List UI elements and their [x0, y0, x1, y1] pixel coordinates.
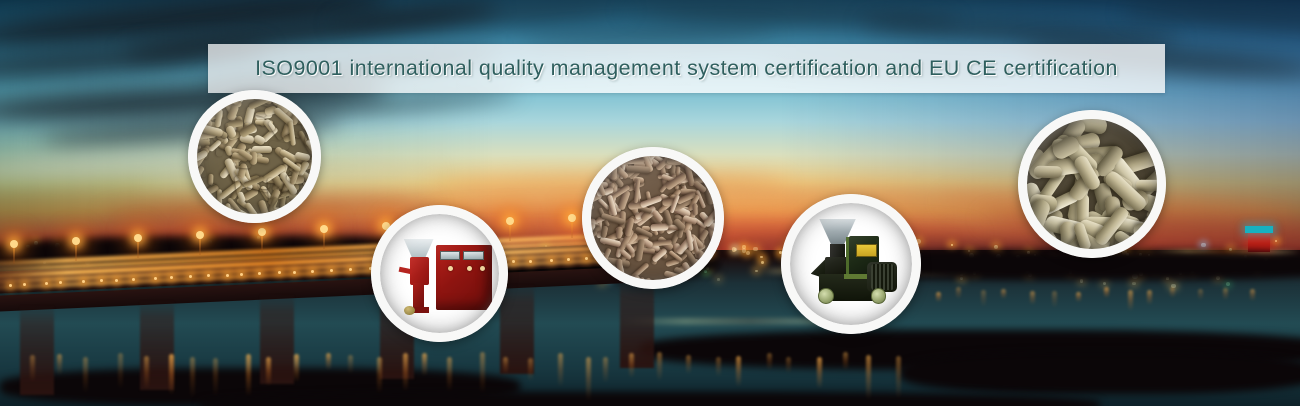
light-reflection: [657, 352, 662, 381]
dark-landmass: [200, 392, 1100, 406]
bridge-edge-light: [258, 272, 261, 275]
wood-pellet: [645, 277, 657, 280]
light-reflection: [83, 357, 88, 393]
promotional-banner: ISO9001 international quality management…: [0, 0, 1300, 406]
light-reflection: [118, 353, 123, 389]
light-reflection: [503, 357, 508, 373]
green-mill-nameplate: [856, 244, 877, 256]
red-billboard: [1248, 232, 1270, 252]
wood-pellet: [693, 203, 698, 215]
street-lamp: [72, 237, 80, 245]
street-lamp: [134, 234, 142, 242]
light-reflection: [603, 357, 608, 383]
wood-pellet: [1034, 166, 1062, 179]
pellet-texture-tan: [591, 156, 715, 280]
wood-pellet: [615, 226, 622, 239]
light-reflection: [57, 354, 62, 375]
circle-wood-pellets-pale[interactable]: [188, 90, 321, 223]
light-reflection: [981, 290, 986, 307]
bridge-edge-light: [226, 274, 229, 277]
bridge-edge-light: [115, 279, 118, 282]
light-reflection: [1250, 289, 1255, 301]
street-lamp: [506, 217, 514, 225]
light-reflection: [1104, 287, 1109, 297]
light-reflection: [1030, 291, 1035, 306]
teal-billboard: [1245, 226, 1273, 233]
light-reflection: [348, 355, 353, 374]
light-reflection: [736, 356, 741, 387]
light-reflection: [480, 352, 485, 393]
wood-pellet: [608, 274, 615, 280]
red-mill-leg: [413, 283, 424, 309]
wood-pellet: [255, 156, 269, 164]
light-reflection: [190, 357, 195, 399]
bridge-edge-light: [9, 284, 12, 287]
light-reflection: [1076, 292, 1081, 302]
wood-pellet: [713, 184, 715, 191]
wood-pellet: [1027, 119, 1039, 139]
bridge-edge-light: [45, 282, 48, 285]
light-reflection: [1052, 291, 1057, 308]
light-reflection: [1170, 287, 1175, 298]
light-reflection: [144, 356, 149, 390]
light-reflection: [169, 354, 174, 395]
light-reflection: [326, 353, 331, 370]
circle-pellet-mill-red[interactable]: [371, 205, 508, 342]
light-reflection: [956, 287, 961, 299]
light-reflection: [767, 353, 772, 370]
light-reflection: [30, 355, 35, 382]
red-mill-flywheel: [404, 306, 415, 316]
wood-pellet: [712, 245, 715, 257]
light-reflection: [558, 353, 563, 386]
street-lamp: [196, 231, 204, 239]
light-reflection: [817, 357, 822, 389]
circle-wood-pellets-tan[interactable]: [582, 147, 724, 289]
light-reflection: [716, 357, 721, 377]
green-mill-wheel-left: [818, 288, 834, 304]
light-reflection: [447, 357, 452, 391]
circle-1-content: [197, 99, 312, 214]
light-reflection: [843, 352, 848, 370]
light-reflection: [686, 355, 691, 375]
bridge-edge-light: [550, 259, 553, 262]
circle-pellet-mill-green[interactable]: [781, 194, 921, 334]
green-pellet-mill-illustration: [790, 203, 912, 325]
light-reflection: [213, 358, 218, 396]
wood-pellet: [1134, 220, 1157, 239]
green-mill-belt-guard: [844, 274, 870, 279]
circle-3-content: [591, 156, 715, 280]
circle-5-content: [1027, 119, 1157, 249]
city-light: [753, 247, 757, 251]
light-reflection: [786, 357, 791, 373]
pellet-texture-pale: [197, 99, 312, 214]
bridge-pier: [20, 305, 54, 395]
cabinet-meter-2: [463, 251, 483, 261]
light-reflection: [528, 358, 533, 381]
light-reflection: [377, 357, 382, 393]
bridge-edge-light: [154, 277, 157, 280]
wood-pellet: [611, 165, 617, 179]
light-reflection: [896, 356, 901, 398]
light-reflection: [936, 292, 941, 302]
light-reflection: [1128, 290, 1133, 311]
street-lamp: [10, 240, 18, 248]
circle-wood-pellets-closeup[interactable]: [1018, 110, 1166, 258]
bridge-pier: [620, 278, 654, 368]
light-reflection: [1147, 290, 1152, 305]
light-reflection: [246, 354, 251, 397]
bridge-edge-light: [585, 257, 588, 260]
page-title: ISO9001 international quality management…: [255, 56, 1118, 81]
light-reflection: [422, 353, 427, 376]
city-light: [742, 248, 747, 253]
red-mill-body: [410, 257, 429, 286]
light-reflection: [1001, 289, 1006, 300]
wood-pellet: [650, 224, 669, 232]
red-pellet-mill-illustration: [380, 214, 499, 333]
bridge-edge-light: [293, 271, 296, 274]
light-reflection: [866, 355, 871, 400]
wood-pellet: [713, 204, 715, 221]
street-lamp: [568, 214, 576, 222]
green-mill-wheel-right: [871, 288, 887, 304]
cabinet-meter-1: [440, 251, 460, 261]
city-light: [1201, 243, 1206, 248]
city-light: [951, 244, 953, 246]
pellet-texture-closeup: [1027, 119, 1157, 249]
title-bar: ISO9001 international quality management…: [208, 44, 1165, 93]
light-reflection: [294, 354, 299, 382]
circle-2-content: [380, 214, 499, 333]
bridge-edge-light: [311, 270, 314, 273]
light-reflection: [629, 353, 634, 378]
wood-pellet: [714, 159, 715, 171]
bridge-edge-light: [330, 269, 333, 272]
light-reflection: [586, 357, 591, 401]
wood-pellet: [257, 181, 269, 189]
bridge-edge-light: [529, 260, 532, 263]
dark-landmass: [900, 352, 1300, 394]
light-reflection: [403, 353, 408, 392]
light-reflection: [1223, 288, 1228, 300]
light-reflection: [266, 357, 271, 385]
green-mill-motor-fins: [871, 264, 894, 290]
light-reflection: [1198, 289, 1203, 300]
wood-pellet: [235, 161, 251, 168]
wood-pellet: [707, 279, 715, 280]
circle-4-content: [790, 203, 912, 325]
bridge-edge-light: [567, 258, 570, 261]
